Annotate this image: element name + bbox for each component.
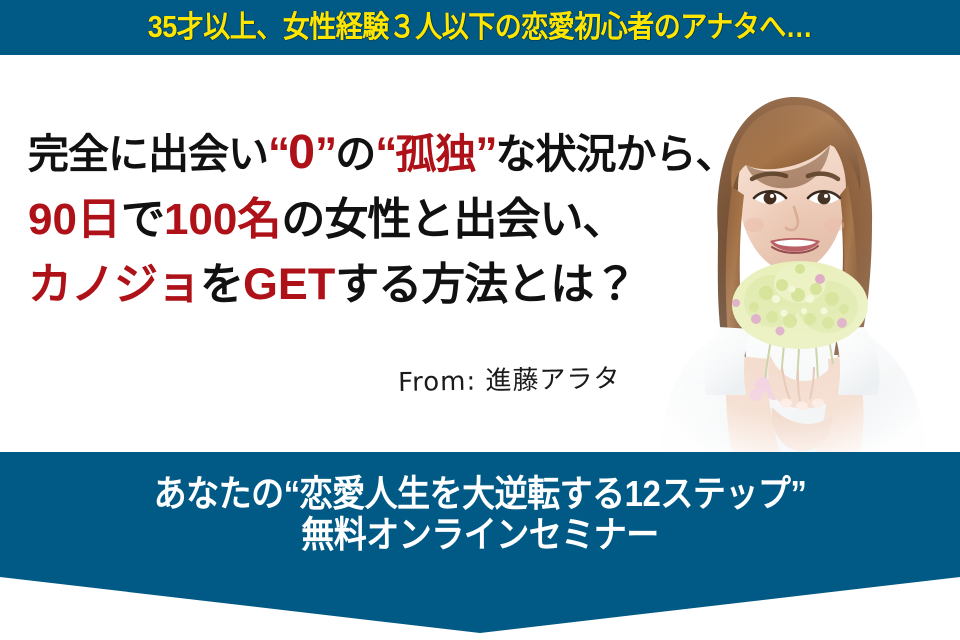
landing-page-hero: 35才以上、女性経験３人以下の恋愛初心者のアナタへ… [0, 0, 960, 640]
bottom-banner-line-2: 無料オンラインセミナー [301, 516, 659, 554]
headline-l2-de: で [121, 195, 164, 244]
headline-l1-seg3: な状況から、 [495, 131, 735, 177]
headline-l3-wo: を [200, 260, 243, 309]
headline-l1-seg2: の [335, 131, 375, 177]
bottom-banner-line-1: あなたの“恋愛人生を大逆転する12ステップ” [154, 475, 807, 513]
headline-l1-quote-close: ” [315, 129, 335, 178]
headline-l3-kanojo: カノジョ [28, 260, 200, 309]
main-headline: 完全に出会い“0”の“孤独”な状況から、 90日で100名の女性と出会い、 カノ… [28, 128, 688, 307]
headline-line-1: 完全に出会い“0”の“孤独”な状況から、 [28, 128, 688, 176]
headline-l1-quote-open-2: “ [375, 129, 395, 178]
top-banner-headline: 35才以上、女性経験３人以下の恋愛初心者のアナタへ… [148, 12, 813, 42]
headline-l1-seg1: 完全に出会い [28, 131, 268, 177]
author-signature: From: 進藤アラタ [398, 358, 621, 399]
headline-l1-kodoku: 孤独 [395, 131, 475, 177]
headline-l2-tail: の女性と出会い、 [281, 195, 625, 244]
headline-line-2: 90日で100名の女性と出会い、 [28, 198, 688, 242]
headline-line-3: カノジョをGETする方法とは？ [28, 262, 688, 307]
headline-l2-days: 90日 [28, 195, 121, 244]
bottom-banner-text: あなたの“恋愛人生を大逆転する12ステップ” 無料オンラインセミナー [0, 452, 960, 577]
headline-l1-quote-close-2: ” [475, 129, 495, 178]
headline-l2-count: 100名 [164, 195, 281, 244]
headline-l3-get: GET [243, 258, 335, 309]
bottom-banner: あなたの“恋愛人生を大逆転する12ステップ” 無料オンラインセミナー [0, 452, 960, 640]
headline-l1-zero: 0 [288, 125, 315, 179]
headline-l3-tail: する方法とは？ [335, 260, 636, 309]
top-banner: 35才以上、女性経験３人以下の恋愛初心者のアナタへ… [0, 0, 960, 55]
headline-l1-quote-open: “ [268, 129, 288, 178]
down-arrow-icon [0, 577, 960, 633]
